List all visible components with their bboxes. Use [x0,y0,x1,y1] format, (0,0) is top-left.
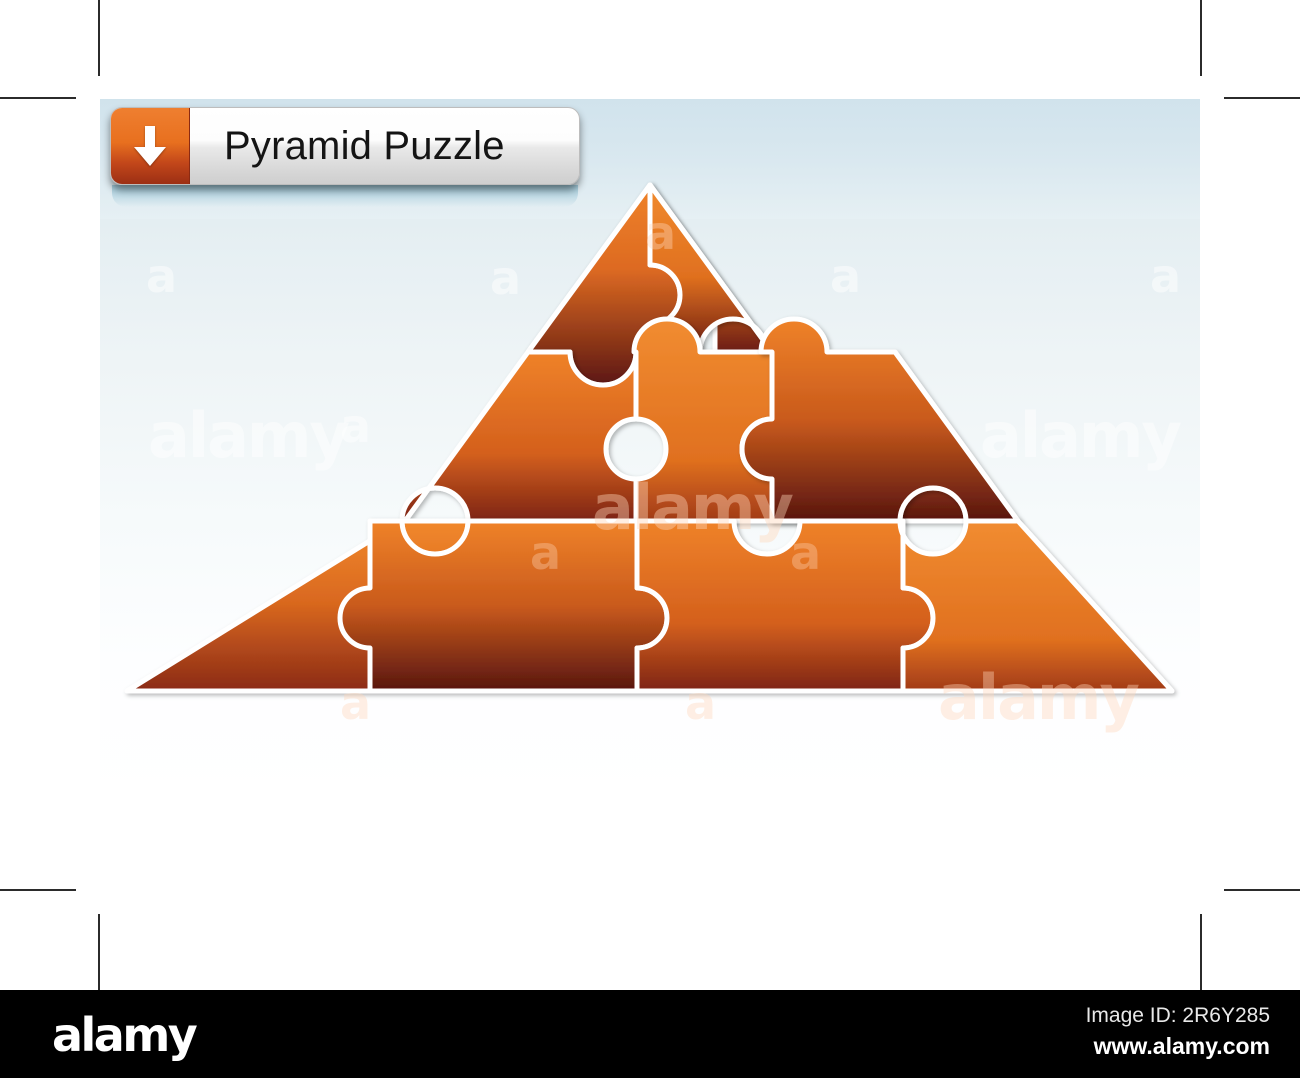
crop-mark-top-left-horizontal [0,97,76,99]
watermark-word-overlay: alamy [592,471,794,544]
watermark-letter-overlay: a [645,206,676,260]
watermark-letter-overlay: a [790,526,821,580]
page-title: Pyramid Puzzle [190,124,579,169]
crop-mark-bottom-left-vertical [98,914,100,990]
image-id-label: Image ID: 2R6Y285 [1086,1004,1270,1028]
watermark-letter-overlay: a [340,676,371,730]
title-button[interactable]: Pyramid Puzzle [110,107,580,185]
crop-mark-top-right-horizontal [1224,97,1300,99]
alamy-url-label: www.alamy.com [1094,1033,1270,1060]
crop-mark-top-left-vertical [98,0,100,76]
watermark-letter-overlay: a [685,676,716,730]
watermark-word-overlay: alamy [938,661,1140,734]
crop-mark-top-right-vertical [1200,0,1202,76]
pyramid-puzzle-svg: alamy a alamy a a a a [100,99,1200,889]
watermark-letter-overlay: a [530,526,561,580]
piece-3-3[interactable] [637,521,933,691]
download-arrow-icon [111,108,190,184]
crop-mark-bottom-right-vertical [1200,914,1202,990]
alamy-logo: alamy [52,1008,195,1062]
piece-3-2[interactable] [340,521,667,691]
artwork-area: a a a a alamy alamy a [100,99,1200,889]
crop-mark-bottom-left-horizontal [0,889,76,891]
footer-bar: alamy Image ID: 2R6Y285 www.alamy.com [0,990,1300,1078]
page-canvas: a a a a alamy alamy a [0,0,1300,1078]
crop-mark-bottom-right-horizontal [1224,889,1300,891]
title-button-reflection [112,185,578,207]
